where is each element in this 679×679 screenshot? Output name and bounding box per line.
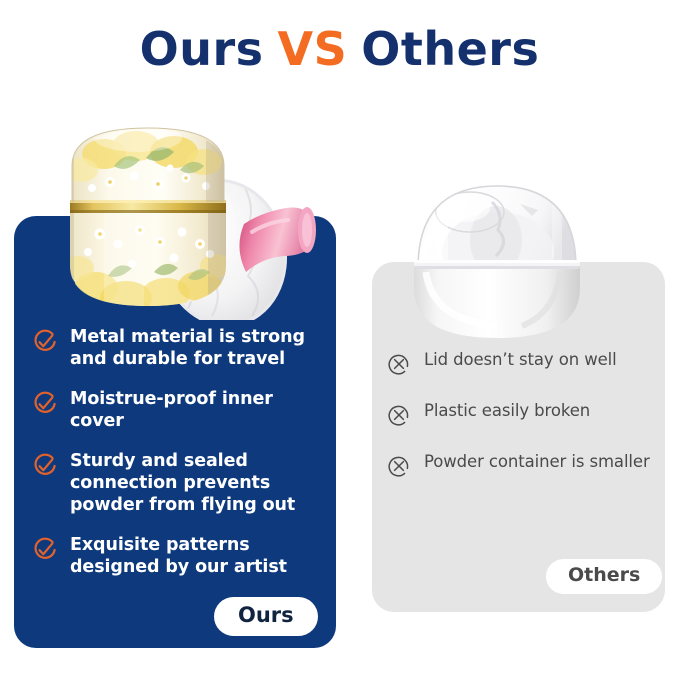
list-item: Lid doesn’t stay on well bbox=[386, 350, 655, 377]
check-circle-icon bbox=[32, 537, 58, 563]
title-word-ours: Ours bbox=[140, 22, 264, 76]
gold-band bbox=[70, 200, 226, 213]
cross-circle-icon bbox=[386, 453, 412, 479]
title-word-vs: VS bbox=[278, 22, 348, 76]
others-feature-list: Lid doesn’t stay on well Plastic easily … bbox=[372, 350, 665, 503]
cross-circle-icon bbox=[386, 402, 412, 428]
list-item-label: Exquisite patterns designed by our artis… bbox=[70, 534, 322, 578]
list-item-label: Lid doesn’t stay on well bbox=[424, 350, 617, 371]
list-item-label: Metal material is strong and durable for… bbox=[70, 326, 322, 370]
list-item: Plastic easily broken bbox=[386, 401, 655, 428]
product-image-others bbox=[392, 160, 602, 350]
title-word-others: Others bbox=[361, 22, 539, 76]
list-item-label: Sturdy and sealed connection prevents po… bbox=[70, 450, 322, 516]
page-title: OursVSOthers bbox=[0, 24, 679, 76]
badge-ours: Ours bbox=[214, 597, 318, 636]
list-item: Moistrue-proof inner cover bbox=[32, 388, 322, 432]
tin-lid bbox=[48, 118, 236, 208]
list-item-label: Plastic easily broken bbox=[424, 401, 590, 422]
product-image-ours bbox=[48, 108, 338, 320]
list-item: Powder container is smaller bbox=[386, 452, 655, 479]
list-item: Sturdy and sealed connection prevents po… bbox=[32, 450, 322, 516]
check-circle-icon bbox=[32, 329, 58, 355]
list-item: Metal material is strong and durable for… bbox=[32, 326, 322, 370]
check-circle-icon bbox=[32, 391, 58, 417]
plastic-base bbox=[414, 264, 580, 338]
list-item-label: Moistrue-proof inner cover bbox=[70, 388, 322, 432]
cross-circle-icon bbox=[386, 351, 412, 377]
badge-others: Others bbox=[546, 559, 662, 594]
comparison-infographic: OursVSOthers Metal material is strong an… bbox=[0, 0, 679, 679]
list-item: Exquisite patterns designed by our artis… bbox=[32, 534, 322, 578]
list-item-label: Powder container is smaller bbox=[424, 452, 650, 473]
ours-feature-list: Metal material is strong and durable for… bbox=[14, 326, 336, 596]
check-circle-icon bbox=[32, 453, 58, 479]
